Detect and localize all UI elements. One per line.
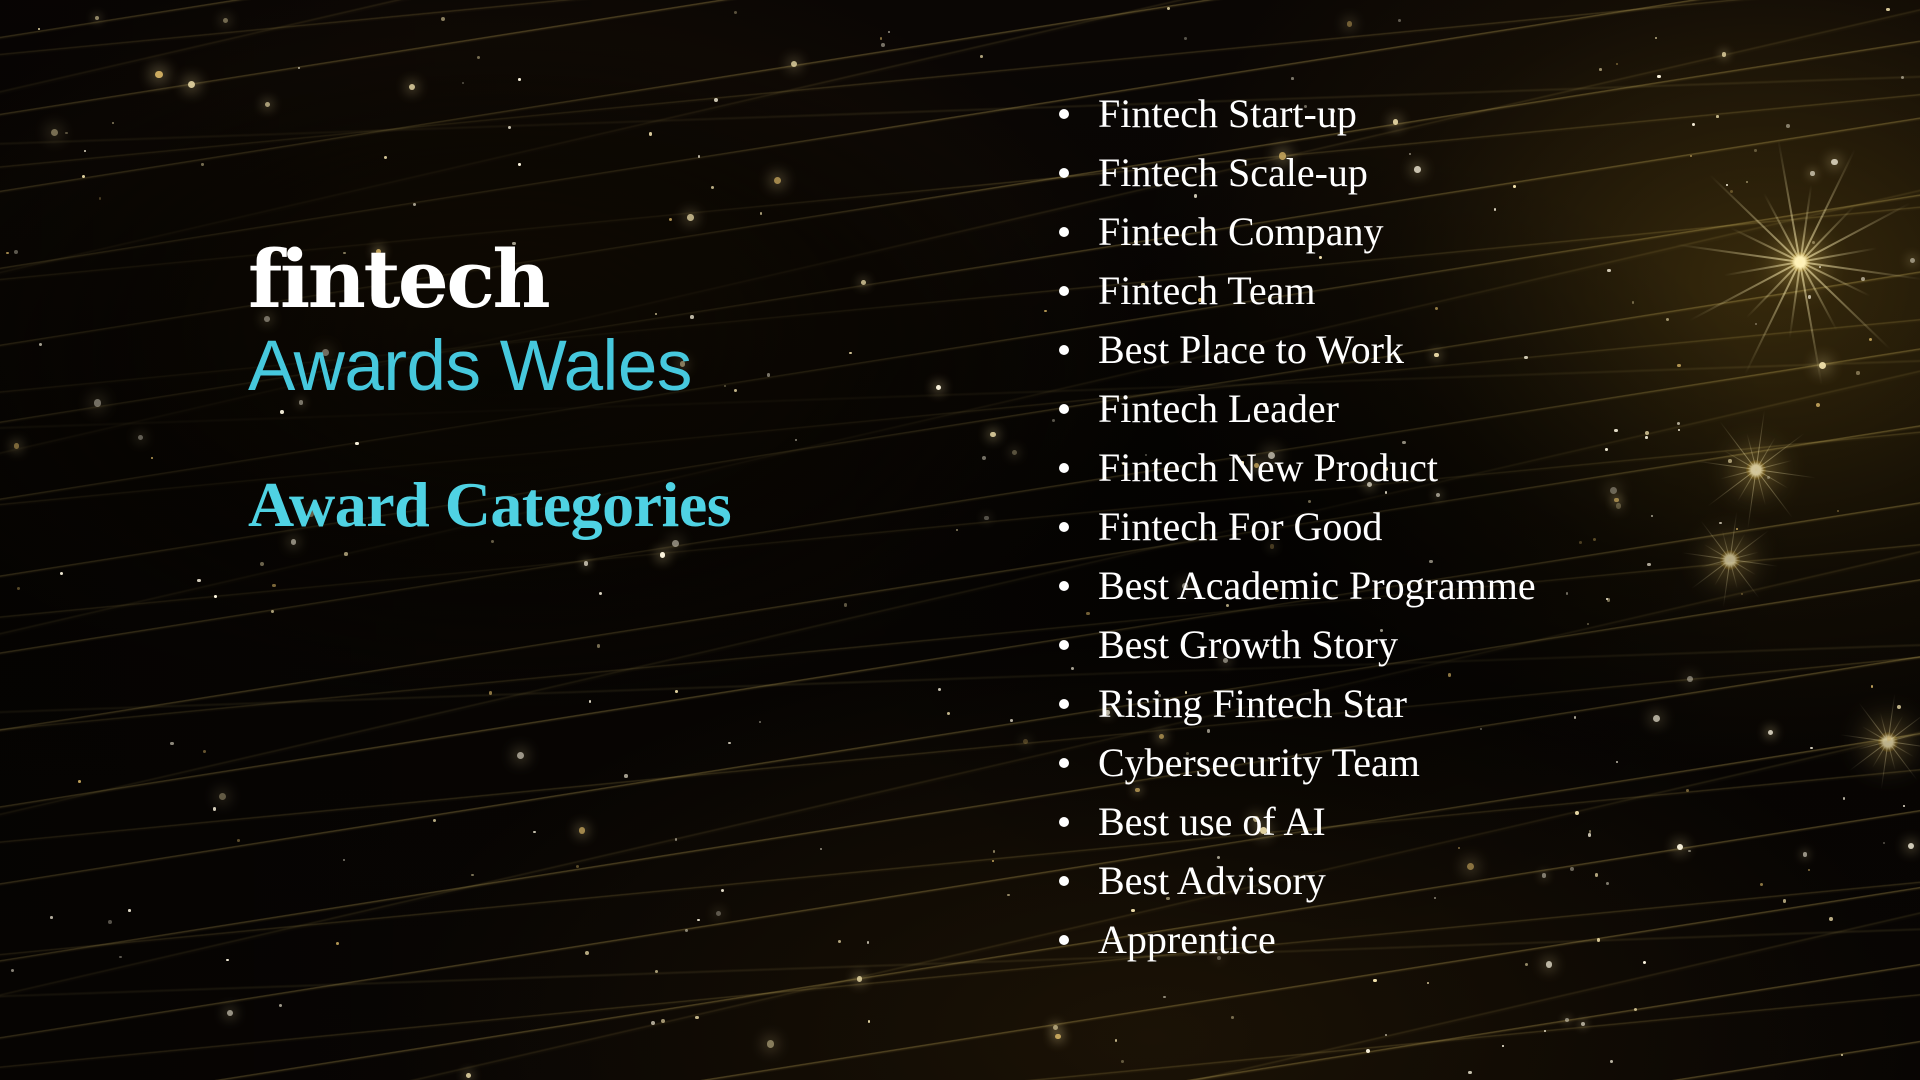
star-point bbox=[844, 603, 848, 607]
star-point bbox=[589, 700, 591, 702]
category-label: Best Advisory bbox=[1098, 858, 1326, 903]
star-point bbox=[669, 218, 672, 221]
star-point bbox=[279, 1004, 283, 1008]
category-label: Fintech Start-up bbox=[1098, 91, 1357, 136]
star-point bbox=[867, 941, 870, 944]
category-label: Fintech New Product bbox=[1098, 445, 1438, 490]
star-point bbox=[1901, 76, 1905, 80]
star-point bbox=[99, 197, 102, 200]
star-point bbox=[108, 920, 112, 924]
list-item: Cybersecurity Team bbox=[1045, 733, 1865, 792]
brand-block: fintech Awards Wales bbox=[248, 243, 908, 402]
category-label: Apprentice bbox=[1098, 917, 1276, 962]
award-categories-list: Fintech Start-upFintech Scale-upFintech … bbox=[1045, 84, 1865, 969]
star-point bbox=[462, 82, 464, 84]
star-point bbox=[409, 84, 415, 90]
star-point bbox=[1886, 8, 1890, 12]
list-item: Fintech For Good bbox=[1045, 497, 1865, 556]
flare-ray bbox=[1881, 694, 1895, 789]
category-label: Best Growth Story bbox=[1098, 622, 1398, 667]
star-point bbox=[343, 859, 346, 862]
bullet-icon bbox=[1059, 286, 1069, 296]
star-point bbox=[1910, 258, 1915, 263]
star-point bbox=[791, 61, 797, 67]
fintech-logo-wordmark: fintech bbox=[248, 243, 908, 317]
star-point bbox=[695, 1016, 699, 1020]
star-point bbox=[599, 592, 602, 595]
flare-ray bbox=[1872, 716, 1903, 768]
star-point bbox=[795, 439, 797, 441]
star-point bbox=[767, 1040, 774, 1047]
star-point bbox=[203, 750, 206, 753]
star-point bbox=[1291, 77, 1294, 80]
star-point bbox=[1231, 1016, 1234, 1019]
list-item: Fintech Start-up bbox=[1045, 84, 1865, 143]
star-point bbox=[838, 940, 841, 943]
bullet-icon bbox=[1059, 817, 1069, 827]
star-point bbox=[1163, 996, 1166, 999]
star-point bbox=[14, 443, 20, 449]
bullet-icon bbox=[1059, 699, 1069, 709]
bullet-icon bbox=[1059, 168, 1069, 178]
star-point bbox=[1373, 979, 1377, 983]
star-point bbox=[857, 976, 863, 982]
star-point bbox=[517, 752, 524, 759]
category-label: Cybersecurity Team bbox=[1098, 740, 1420, 785]
star-point bbox=[272, 584, 276, 588]
list-item: Apprentice bbox=[1045, 910, 1865, 969]
presentation-slide: fintech Awards Wales Award Categories Fi… bbox=[0, 0, 1920, 1080]
star-point bbox=[11, 969, 14, 972]
star-point bbox=[94, 399, 101, 406]
star-point bbox=[39, 343, 43, 347]
star-point bbox=[1616, 63, 1618, 65]
star-point bbox=[980, 55, 983, 58]
bullet-icon bbox=[1059, 227, 1069, 237]
star-point bbox=[441, 17, 445, 21]
list-item: Best Place to Work bbox=[1045, 320, 1865, 379]
star-point bbox=[1167, 7, 1171, 11]
category-label: Fintech Leader bbox=[1098, 386, 1339, 431]
star-point bbox=[597, 644, 601, 648]
star-point bbox=[298, 67, 301, 70]
star-point bbox=[413, 203, 416, 206]
star-point bbox=[271, 610, 274, 613]
star-point bbox=[1023, 739, 1028, 744]
star-point bbox=[714, 98, 718, 102]
star-point bbox=[60, 572, 63, 575]
star-point bbox=[14, 250, 18, 254]
star-point bbox=[508, 126, 511, 129]
star-point bbox=[716, 911, 722, 917]
star-point bbox=[489, 691, 493, 695]
list-item: Fintech Team bbox=[1045, 261, 1865, 320]
star-point bbox=[881, 43, 885, 47]
star-point bbox=[1599, 68, 1602, 71]
star-point bbox=[1565, 1018, 1569, 1022]
star-point bbox=[675, 838, 678, 841]
star-point bbox=[888, 31, 890, 33]
star-point bbox=[1012, 450, 1017, 455]
star-point bbox=[1841, 1054, 1843, 1056]
star-point bbox=[223, 18, 228, 23]
bullet-icon bbox=[1059, 581, 1069, 591]
star-point bbox=[711, 186, 714, 189]
star-point bbox=[576, 865, 580, 869]
star-point bbox=[947, 712, 950, 715]
star-point bbox=[227, 1010, 233, 1016]
star-point bbox=[112, 122, 114, 124]
star-point bbox=[119, 956, 121, 958]
star-point bbox=[990, 432, 996, 438]
star-point bbox=[6, 252, 9, 255]
star-point bbox=[151, 457, 154, 460]
star-point bbox=[533, 831, 536, 834]
star-point bbox=[868, 1020, 871, 1023]
bullet-icon bbox=[1059, 404, 1069, 414]
bullet-icon bbox=[1059, 640, 1069, 650]
star-point bbox=[1908, 843, 1914, 849]
star-point bbox=[760, 212, 763, 215]
star-point bbox=[1657, 75, 1661, 79]
star-point bbox=[155, 71, 163, 79]
star-point bbox=[660, 552, 666, 558]
star-point bbox=[1385, 1034, 1387, 1036]
star-point bbox=[1903, 805, 1906, 808]
category-label: Fintech Team bbox=[1098, 268, 1316, 313]
star-point bbox=[579, 827, 585, 833]
star-point bbox=[201, 163, 203, 165]
category-label: Fintech For Good bbox=[1098, 504, 1382, 549]
star-point bbox=[280, 410, 284, 414]
star-point bbox=[17, 587, 20, 590]
star-point bbox=[774, 177, 781, 184]
star-point bbox=[1610, 1060, 1613, 1063]
star-point bbox=[675, 690, 678, 693]
flare-ray bbox=[1880, 713, 1896, 771]
list-item: Rising Fintech Star bbox=[1045, 674, 1865, 733]
star-point bbox=[880, 37, 882, 39]
star-point bbox=[624, 774, 628, 778]
star-point bbox=[956, 529, 958, 531]
star-point bbox=[1544, 1030, 1546, 1032]
flare-ray bbox=[1859, 734, 1917, 750]
star-point bbox=[698, 155, 701, 158]
star-point bbox=[1468, 1071, 1472, 1075]
star-point bbox=[128, 909, 131, 912]
bullet-icon bbox=[1059, 345, 1069, 355]
star-point bbox=[672, 540, 679, 547]
star-point bbox=[518, 78, 521, 81]
star-point bbox=[265, 102, 271, 108]
category-label: Best Academic Programme bbox=[1098, 563, 1536, 608]
star-point bbox=[433, 819, 436, 822]
star-point bbox=[1634, 1008, 1637, 1011]
list-item: Best use of AI bbox=[1045, 792, 1865, 851]
star-point bbox=[584, 561, 588, 565]
star-point bbox=[84, 150, 86, 152]
star-point bbox=[1722, 52, 1726, 56]
star-point bbox=[685, 929, 689, 933]
list-item: Fintech Company bbox=[1045, 202, 1865, 261]
star-point bbox=[1581, 1022, 1585, 1026]
star-point bbox=[728, 742, 731, 745]
star-point bbox=[95, 16, 99, 20]
awards-wales-subtitle: Awards Wales bbox=[248, 331, 908, 402]
star-point bbox=[1871, 685, 1874, 688]
star-point bbox=[992, 860, 994, 862]
list-item: Best Advisory bbox=[1045, 851, 1865, 910]
star-point bbox=[993, 850, 995, 852]
star-point bbox=[759, 721, 762, 724]
bullet-icon bbox=[1059, 876, 1069, 886]
star-point bbox=[477, 56, 480, 59]
star-point bbox=[938, 688, 941, 691]
list-item: Fintech New Product bbox=[1045, 438, 1865, 497]
star-point bbox=[78, 780, 81, 783]
star-point bbox=[1053, 1025, 1058, 1030]
star-point bbox=[1897, 705, 1901, 709]
star-point bbox=[1887, 736, 1892, 741]
star-point bbox=[585, 951, 589, 955]
star-point bbox=[138, 435, 143, 440]
star-point bbox=[214, 595, 217, 598]
bullet-icon bbox=[1059, 109, 1069, 119]
star-point bbox=[820, 848, 822, 850]
star-point bbox=[219, 793, 226, 800]
star-point bbox=[237, 839, 240, 842]
star-point bbox=[65, 132, 67, 134]
star-point bbox=[1347, 21, 1353, 27]
star-point bbox=[984, 516, 988, 520]
category-label: Best use of AI bbox=[1098, 799, 1326, 844]
star-point bbox=[982, 456, 986, 460]
star-point bbox=[1427, 982, 1429, 984]
star-point bbox=[355, 442, 359, 446]
star-point bbox=[344, 552, 348, 556]
star-point bbox=[384, 156, 387, 159]
star-point bbox=[336, 942, 339, 945]
category-label: Best Place to Work bbox=[1098, 327, 1404, 372]
star-point bbox=[721, 889, 724, 892]
page-title: Award Categories bbox=[248, 473, 731, 537]
list-item: Best Growth Story bbox=[1045, 615, 1865, 674]
star-point bbox=[1655, 37, 1657, 39]
star-point bbox=[1869, 338, 1872, 341]
star-point bbox=[260, 562, 264, 566]
star-point bbox=[518, 163, 520, 165]
star-point bbox=[936, 385, 941, 390]
star-point bbox=[197, 579, 201, 583]
list-item: Fintech Scale-up bbox=[1045, 143, 1865, 202]
bullet-icon bbox=[1059, 463, 1069, 473]
star-point bbox=[1055, 1034, 1061, 1040]
star-point bbox=[661, 1019, 665, 1023]
star-point bbox=[471, 874, 473, 876]
star-point bbox=[1366, 1049, 1370, 1053]
star-point bbox=[655, 970, 659, 974]
bullet-icon bbox=[1059, 935, 1069, 945]
star-point bbox=[1502, 1045, 1504, 1047]
star-point bbox=[51, 129, 58, 136]
star-point bbox=[651, 1021, 655, 1025]
star-point bbox=[687, 214, 694, 221]
star-point bbox=[188, 81, 195, 88]
star-point bbox=[1115, 1039, 1118, 1042]
category-label: Fintech Company bbox=[1098, 209, 1384, 254]
star-point bbox=[1883, 842, 1885, 844]
star-point bbox=[38, 28, 40, 30]
star-point bbox=[226, 959, 228, 961]
category-label: Fintech Scale-up bbox=[1098, 150, 1368, 195]
star-point bbox=[734, 11, 737, 14]
star-point bbox=[1010, 719, 1013, 722]
star-point bbox=[291, 539, 297, 545]
flare-ray bbox=[1862, 726, 1914, 757]
star-point bbox=[1398, 19, 1401, 22]
list-item: Best Academic Programme bbox=[1045, 556, 1865, 615]
star-point bbox=[82, 175, 86, 179]
star-point bbox=[1007, 894, 1010, 897]
star-point bbox=[466, 1073, 471, 1078]
flare-ray bbox=[1859, 703, 1918, 780]
star-point bbox=[213, 807, 217, 811]
star-point bbox=[697, 919, 700, 922]
list-item: Fintech Leader bbox=[1045, 379, 1865, 438]
star-point bbox=[170, 742, 173, 745]
bullet-icon bbox=[1059, 758, 1069, 768]
category-label: Rising Fintech Star bbox=[1098, 681, 1407, 726]
star-point bbox=[649, 132, 652, 135]
star-point bbox=[50, 916, 53, 919]
bullet-icon bbox=[1059, 522, 1069, 532]
flare-core bbox=[1878, 732, 1898, 752]
star-point bbox=[1184, 37, 1187, 40]
star-point bbox=[1121, 1060, 1124, 1063]
